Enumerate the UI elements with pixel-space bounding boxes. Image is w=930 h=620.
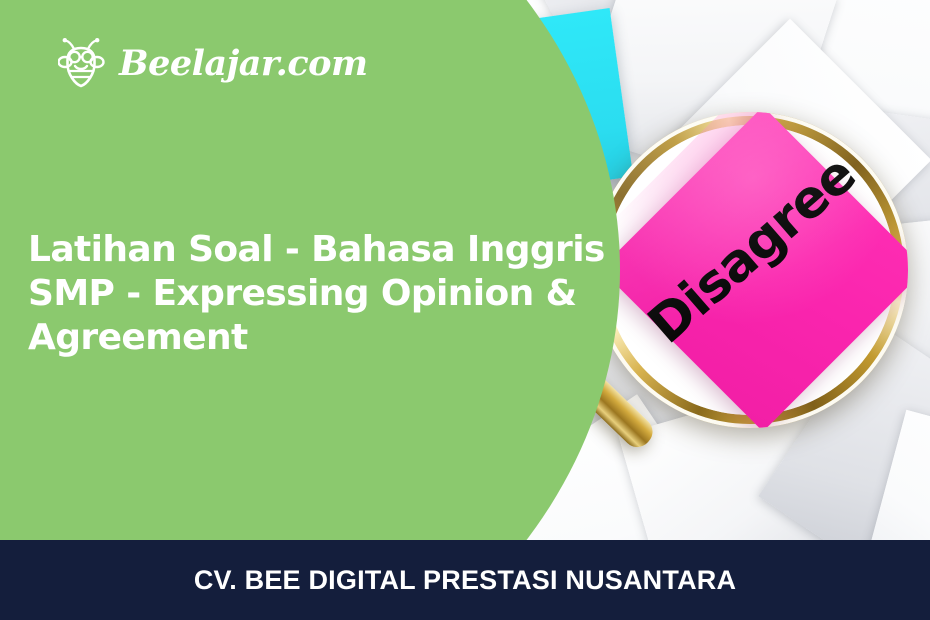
bee-with-glasses-icon bbox=[58, 38, 110, 88]
footer-company-name: CV. BEE DIGITAL PRESTASI NUSANTARA bbox=[194, 565, 736, 596]
footer-bar: CV. BEE DIGITAL PRESTASI NUSANTARA bbox=[0, 540, 930, 620]
thumbnail-canvas: ree Disagree bbox=[0, 0, 930, 620]
brand-logo[interactable]: Beelajar.com bbox=[58, 38, 368, 88]
hero-content: Beelajar.com Latihan Soal - Bahasa Inggr… bbox=[0, 0, 930, 540]
brand-logo-text: Beelajar.com bbox=[119, 46, 368, 81]
page-title: Latihan Soal - Bahasa Inggris SMP - Expr… bbox=[28, 228, 648, 360]
